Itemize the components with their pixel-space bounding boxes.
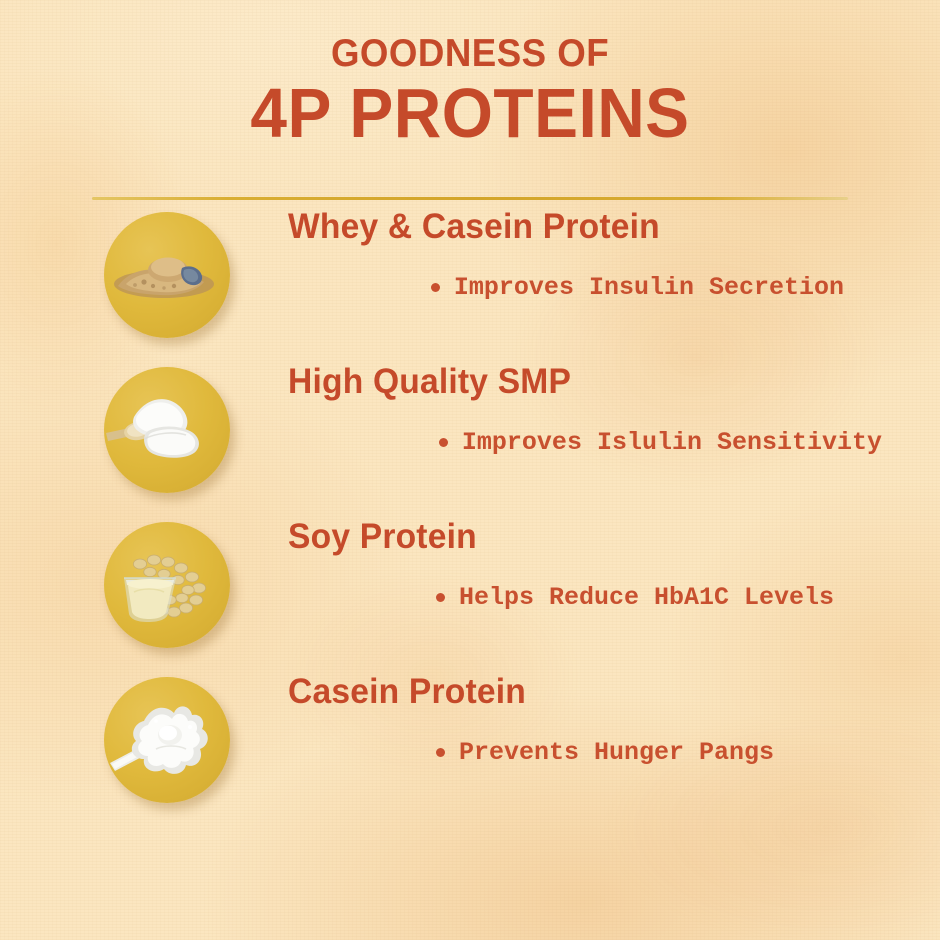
milk-powder-spoon-art bbox=[104, 367, 230, 493]
benefit-heading: Whey & Casein Protein bbox=[288, 208, 858, 247]
row-text-block: Soy Protein Helps Reduce HbA1C Levels bbox=[288, 518, 882, 612]
benefit-bullet-text: Helps Reduce HbA1C Levels bbox=[459, 583, 834, 612]
casein-powder-spoon-icon bbox=[104, 677, 230, 803]
benefit-bullet-row: Prevents Hunger Pangs bbox=[288, 738, 882, 767]
benefit-bullet-text: Prevents Hunger Pangs bbox=[459, 738, 774, 767]
bullet-dot-icon bbox=[436, 593, 445, 602]
list-item: High Quality SMP Improves Islulin Sensit… bbox=[0, 363, 940, 518]
benefit-bullet-row: Improves Islulin Sensitivity bbox=[288, 428, 882, 457]
benefit-bullet-text: Improves Insulin Secretion bbox=[454, 273, 844, 302]
benefit-heading: Soy Protein bbox=[288, 518, 858, 557]
page-title: 4P PROTEINS bbox=[28, 77, 912, 151]
row-icon-wrapper bbox=[104, 677, 230, 803]
list-item: Casein Protein Prevents Hunger Pangs bbox=[0, 673, 940, 828]
infographic-poster: GOODNESS OF 4P PROTEINS bbox=[0, 0, 940, 940]
benefit-bullet-row: Helps Reduce HbA1C Levels bbox=[288, 583, 882, 612]
bullet-dot-icon bbox=[436, 748, 445, 757]
whey-casein-powder-art bbox=[104, 212, 230, 338]
row-text-block: Whey & Casein Protein Improves Insulin S… bbox=[288, 208, 882, 302]
benefit-bullet-text: Improves Islulin Sensitivity bbox=[462, 428, 882, 457]
row-icon-wrapper bbox=[104, 367, 230, 493]
bullet-dot-icon bbox=[439, 438, 448, 447]
soybeans-bowl-icon bbox=[104, 522, 230, 648]
benefit-heading: Casein Protein bbox=[288, 673, 858, 712]
row-text-block: High Quality SMP Improves Islulin Sensit… bbox=[288, 363, 882, 457]
casein-powder-spoon-art bbox=[104, 677, 230, 803]
whey-casein-powder-icon bbox=[104, 212, 230, 338]
bullet-dot-icon bbox=[431, 283, 440, 292]
benefit-heading: High Quality SMP bbox=[288, 363, 858, 402]
list-item: Whey & Casein Protein Improves Insulin S… bbox=[0, 208, 940, 363]
row-icon-wrapper bbox=[104, 212, 230, 338]
title-line-one: GOODNESS OF bbox=[28, 34, 912, 75]
benefit-bullet-row: Improves Insulin Secretion bbox=[288, 273, 882, 302]
benefits-list: Whey & Casein Protein Improves Insulin S… bbox=[0, 208, 940, 828]
soybeans-bowl-art bbox=[104, 522, 230, 648]
list-item: Soy Protein Helps Reduce HbA1C Levels bbox=[0, 518, 940, 673]
row-icon-wrapper bbox=[104, 522, 230, 648]
milk-powder-spoon-icon bbox=[104, 367, 230, 493]
row-text-block: Casein Protein Prevents Hunger Pangs bbox=[288, 673, 882, 767]
poster-header: GOODNESS OF 4P PROTEINS bbox=[0, 0, 940, 150]
header-divider bbox=[92, 197, 848, 200]
